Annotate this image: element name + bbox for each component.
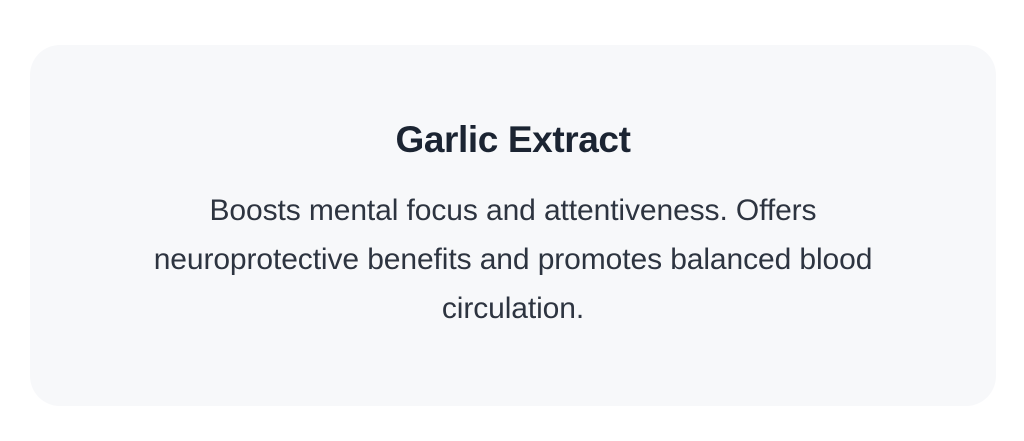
- card-description: Boosts mental focus and attentiveness. O…: [113, 186, 913, 333]
- ingredient-card: Garlic Extract Boosts mental focus and a…: [30, 45, 996, 406]
- page-root: Garlic Extract Boosts mental focus and a…: [0, 0, 1024, 441]
- card-title: Garlic Extract: [30, 118, 996, 162]
